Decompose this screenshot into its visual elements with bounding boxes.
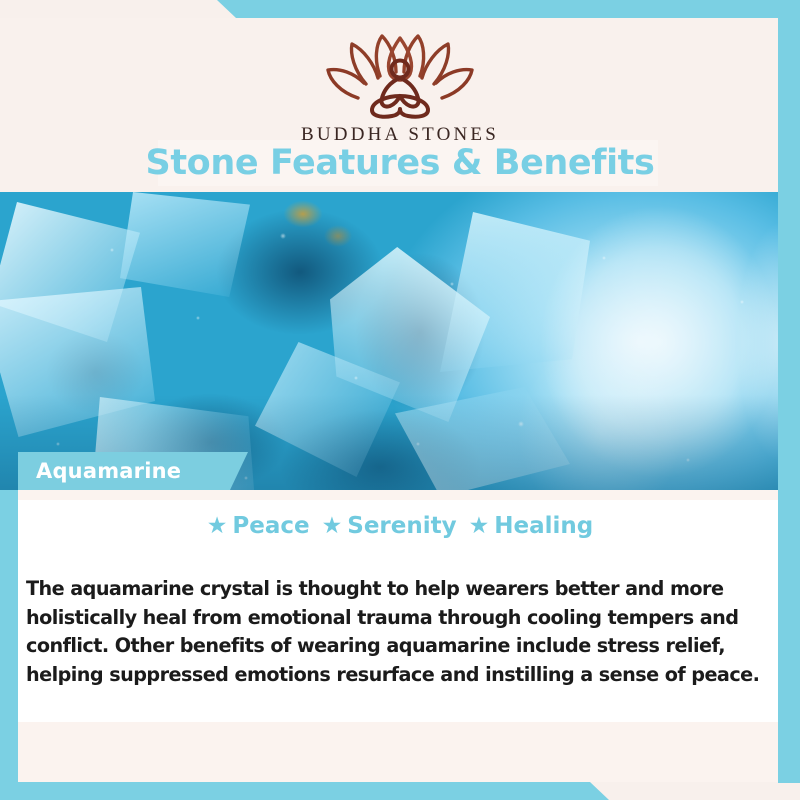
frame-band-left [0,490,18,782]
keyword-list: ★Peace★Serenity★Healing [0,512,800,539]
brand-logo: BUDDHA STONES [0,26,800,146]
page-title: Stone Features & Benefits [0,140,800,186]
frame-band-bottom [0,782,800,800]
star-icon: ★ [207,512,228,539]
aquamarine-crystal-photo [0,192,800,490]
frame-band-top [0,0,800,18]
stone-benefits-infographic: BUDDHA STONES Stone Features & Benefits … [0,0,800,800]
star-icon: ★ [469,512,490,539]
star-icon: ★ [322,512,343,539]
lotus-meditation-figure-icon [310,26,490,122]
frame-band-right [778,17,800,783]
keyword-healing: Healing [494,513,593,539]
description-paragraph: The aquamarine crystal is thought to hel… [26,575,764,689]
photo-bottom-shade [0,192,800,490]
keyword-serenity: Serenity [347,513,456,539]
keyword-peace: Peace [232,513,309,539]
photo-caption-label: Aquamarine [36,452,181,490]
